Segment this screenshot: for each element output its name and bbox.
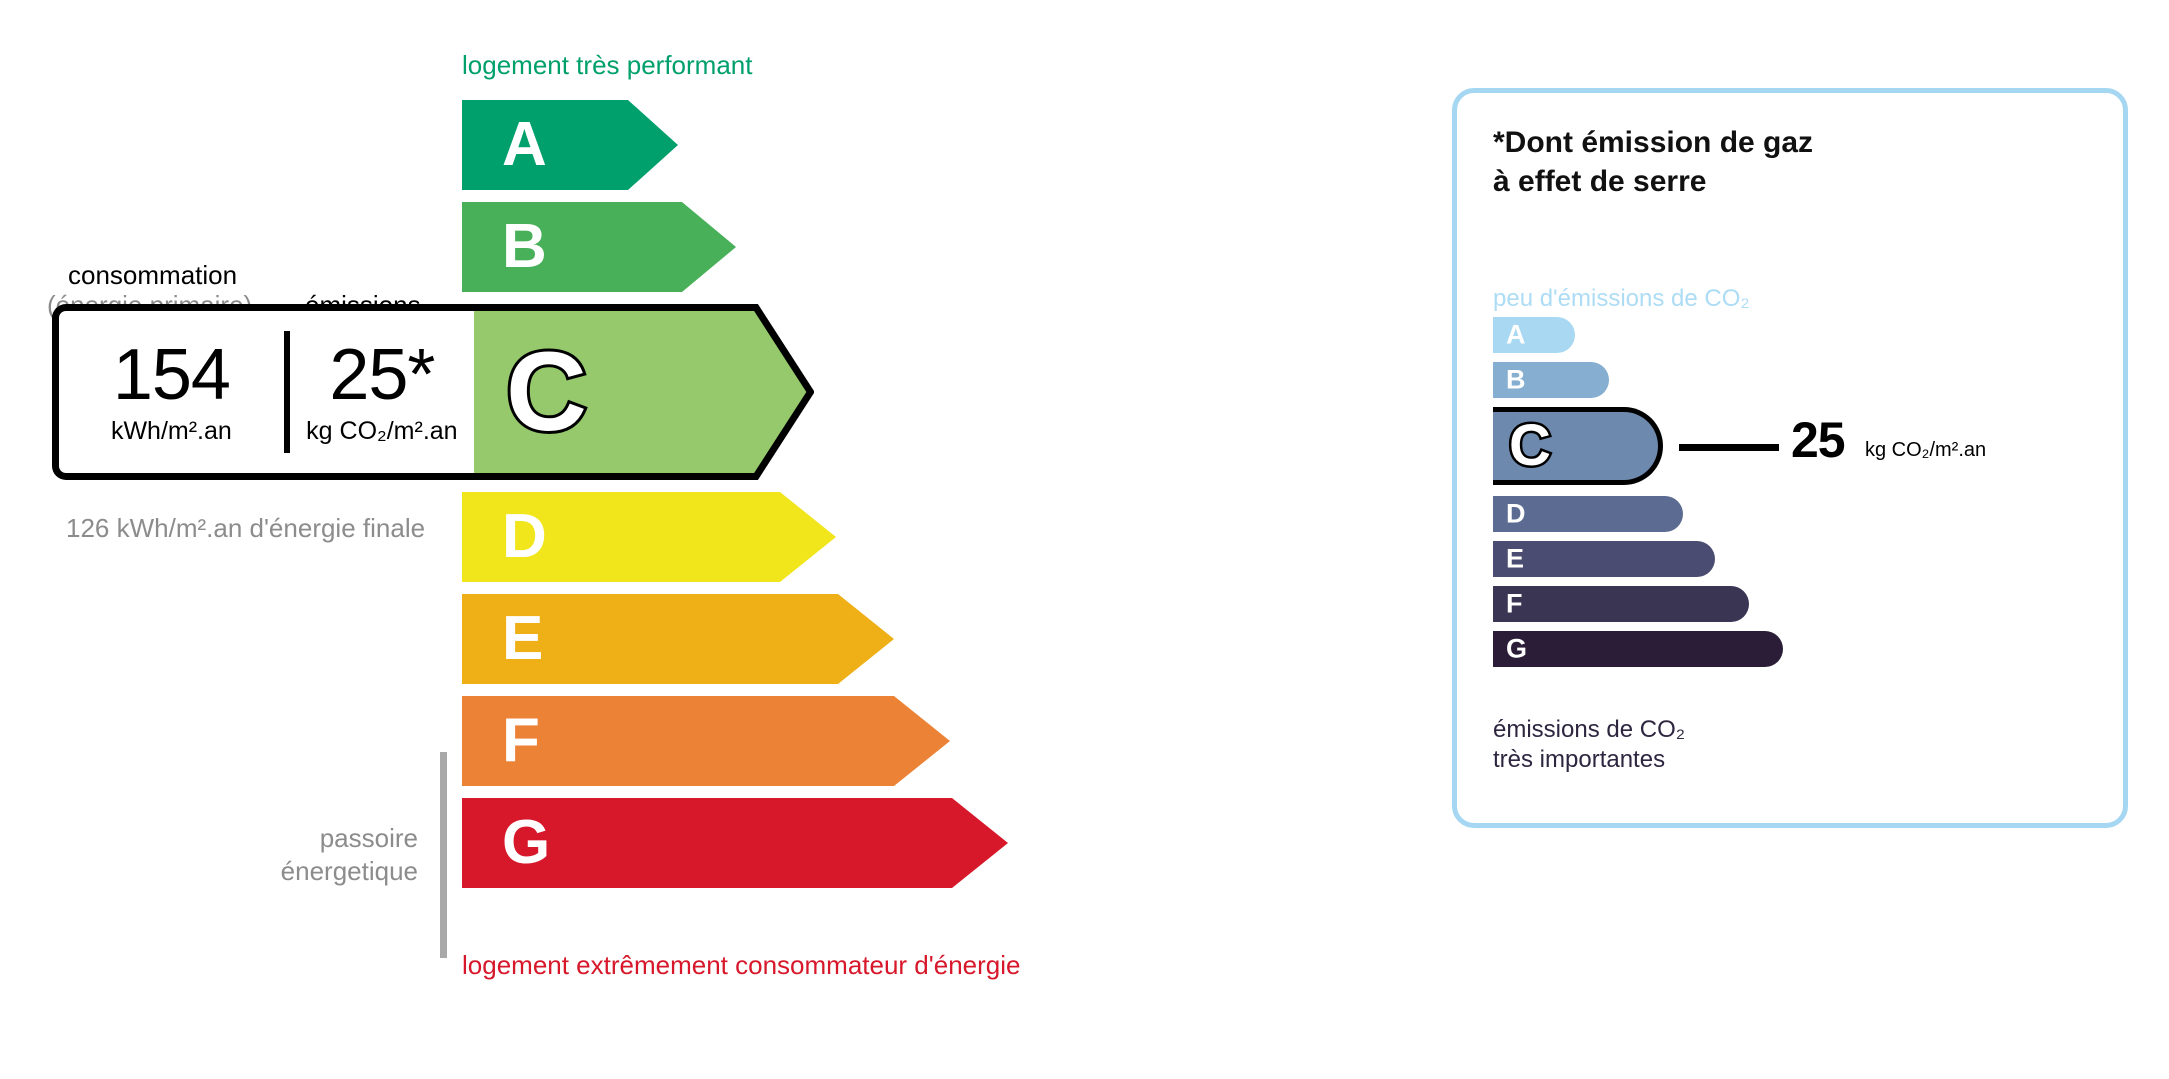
energy-value-box: 154kWh/m².an25*kg CO₂/m².an	[52, 304, 474, 480]
emission-cell: 25*kg CO₂/m².an	[290, 311, 474, 473]
consumption-unit: kWh/m².an	[111, 417, 232, 446]
co2-bar-f	[1493, 586, 1749, 622]
co2-class-row-f: F	[1493, 586, 2093, 622]
co2-emissions-panel: *Dont émission de gaz à effet de serre p…	[1452, 88, 2128, 828]
co2-bar-g	[1493, 631, 1783, 667]
consumption-cell: 154kWh/m².an	[59, 311, 284, 473]
emission-unit: kg CO₂/m².an	[306, 417, 457, 446]
energy-class-row-e: E	[0, 594, 1400, 684]
emission-value: 25*	[329, 339, 434, 411]
co2-class-row-c: C25kg CO₂/m².an	[1493, 407, 2093, 485]
energy-arrow-c: C	[462, 304, 814, 480]
energy-arrow-a: A	[462, 100, 678, 190]
co2-class-row-e: E	[1493, 541, 2093, 577]
energy-arrow-b: B	[462, 202, 736, 292]
co2-class-letter-a: A	[1506, 322, 1526, 349]
co2-value: 25	[1791, 415, 1845, 465]
co2-class-row-b: B	[1493, 362, 2093, 398]
co2-class-letter-g: G	[1506, 636, 1527, 663]
co2-class-letter-b: B	[1506, 367, 1526, 394]
energy-class-row-f: F	[0, 696, 1400, 786]
consumption-value: 154	[113, 339, 230, 411]
co2-class-row-a: A	[1493, 317, 2093, 353]
energy-class-row-c: 154kWh/m².an25*kg CO₂/m².anC	[0, 304, 1400, 480]
co2-bottom-caption: émissions de CO₂ très importantes	[1493, 715, 1685, 775]
energy-class-rows: AB154kWh/m².an25*kg CO₂/m².anCDEFG	[0, 100, 1400, 900]
energy-arrow-e: E	[462, 594, 894, 684]
chart-bottom-caption: logement extrêmement consommateur d'éner…	[462, 950, 1020, 981]
co2-panel-title: *Dont émission de gaz à effet de serre	[1493, 123, 1813, 201]
co2-class-rows: ABC25kg CO₂/m².anDEFG	[1493, 317, 2093, 676]
co2-class-letter-c: C	[1509, 417, 1551, 475]
co2-bar-e	[1493, 541, 1715, 577]
label-consommation: consommation	[68, 260, 237, 291]
energy-arrow-d: D	[462, 492, 836, 582]
passoire-label: passoire énergetique	[200, 822, 418, 888]
co2-class-row-g: G	[1493, 631, 2093, 667]
co2-top-caption: peu d'émissions de CO₂	[1493, 285, 1750, 313]
co2-class-letter-f: F	[1506, 591, 1523, 618]
chart-top-caption: logement très performant	[462, 50, 752, 81]
energy-class-row-a: A	[0, 100, 1400, 190]
energy-arrow-g: G	[462, 798, 1008, 888]
final-energy-note: 126 kWh/m².an d'énergie finale	[66, 512, 425, 545]
co2-class-row-d: D	[1493, 496, 2093, 532]
co2-class-letter-e: E	[1506, 546, 1524, 573]
co2-class-letter-d: D	[1506, 501, 1526, 528]
passoire-bracket	[440, 752, 447, 958]
co2-value-unit: kg CO₂/m².an	[1865, 439, 1986, 462]
energy-arrow-f: F	[462, 696, 950, 786]
co2-leader-line	[1679, 444, 1779, 451]
energy-performance-chart: logement très performant AB154kWh/m².an2…	[0, 0, 1400, 1079]
